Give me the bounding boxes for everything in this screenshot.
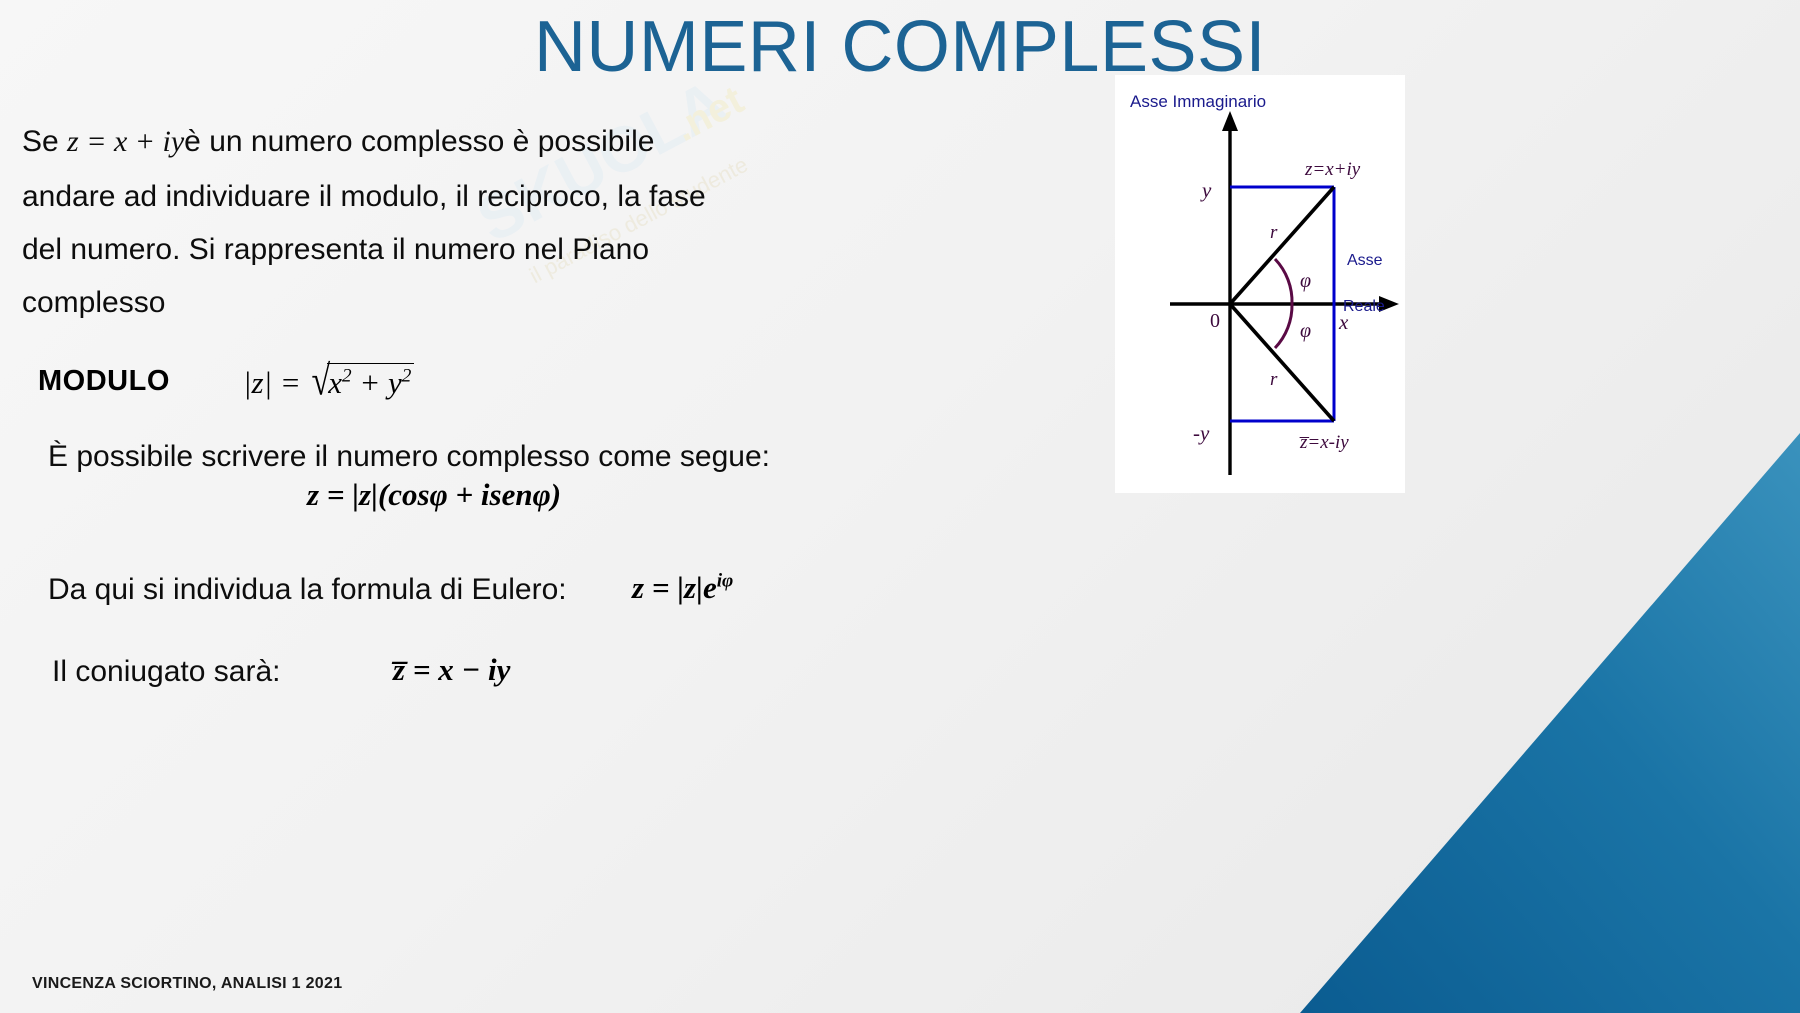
eulero-formula: z = |z|eiφ [632,570,733,606]
diagram-label-conjugate-z: z̅=x-iy [1299,432,1349,453]
radius-vector-upper [1230,187,1334,304]
footer-attribution: VINCENZA SCIORTINO, ANALISI 1 2021 [32,975,342,993]
diagram-label-point-z: z=x+iy [1304,159,1361,180]
radicand-x-exponent: 2 [342,366,352,387]
modulo-formula: |z| = √x2 + y2 [243,363,414,402]
diagram-label-y-negative: -y [1193,421,1210,445]
coniugato-formula: z̅ = x − iy [393,652,510,688]
coniugato-text: Il coniugato sarà: [52,655,280,689]
imaginary-axis-arrowhead-icon [1222,111,1238,131]
body-line-1: Se z = x + iyè un numero complesso è pos… [22,125,654,159]
radical-sign-icon: √ [312,358,331,406]
diagram-label-angle-lower: φ [1300,320,1311,342]
eulero-formula-base: z = |z|e [632,570,717,605]
corner-triangle-decoration [1100,433,1800,1013]
diagram-label-origin: 0 [1210,310,1220,332]
angle-arc-upper [1275,259,1292,304]
radicand-plus: + [359,365,380,400]
modulo-formula-lhs: |z| = [243,365,301,400]
body-line-3: del numero. Si rappresenta il numero nel… [22,233,649,267]
body-line-1-suffix: è un numero complesso è possibile [184,125,654,158]
diagram-axis-real-label-line1: Asse [1347,252,1383,269]
svg-text:.net: .net [667,78,750,150]
angle-arc-lower [1275,304,1292,348]
body-line-4: complesso [22,286,165,320]
diagram-axis-real-label-line2: Reale [1343,298,1385,315]
trig-intro-text: È possibile scrivere il numero complesso… [48,440,770,474]
svg-text:SKUOLA: SKUOLA [480,75,738,256]
slide-canvas: SKUOLA .net il paradiso dello studente N… [0,0,1800,1013]
body-line-2: andare ad individuare il modulo, il reci… [22,180,706,214]
diagram-label-radius-upper: r [1270,222,1278,243]
diagram-label-y-positive: y [1200,178,1212,202]
modulo-label: MODULO [38,365,170,398]
diagram-label-angle-upper: φ [1300,270,1311,292]
square-root-expression: √x2 + y2 [309,363,415,402]
svg-text:il paradiso dello studente: il paradiso dello studente [525,152,752,288]
trig-formula: z = |z|(cosφ + isenφ) [307,477,561,513]
diagram-label-radius-lower: r [1270,369,1278,390]
eulero-text: Da qui si individua la formula di Eulero… [48,573,567,607]
inline-formula-z-definition: z = x + iy [67,125,184,158]
page-title: NUMERI COMPLESSI [0,6,1800,88]
radius-vector-lower [1230,304,1334,421]
radicand-y-exponent: 2 [402,366,412,387]
body-line-1-prefix: Se [22,125,67,158]
complex-plane-diagram: Asse Immaginario y -y 0 x r [1115,75,1405,493]
eulero-formula-exponent: iφ [717,571,734,592]
radicand-y: y [388,365,402,400]
diagram-axis-imaginary-label: Asse Immaginario [1130,92,1266,111]
